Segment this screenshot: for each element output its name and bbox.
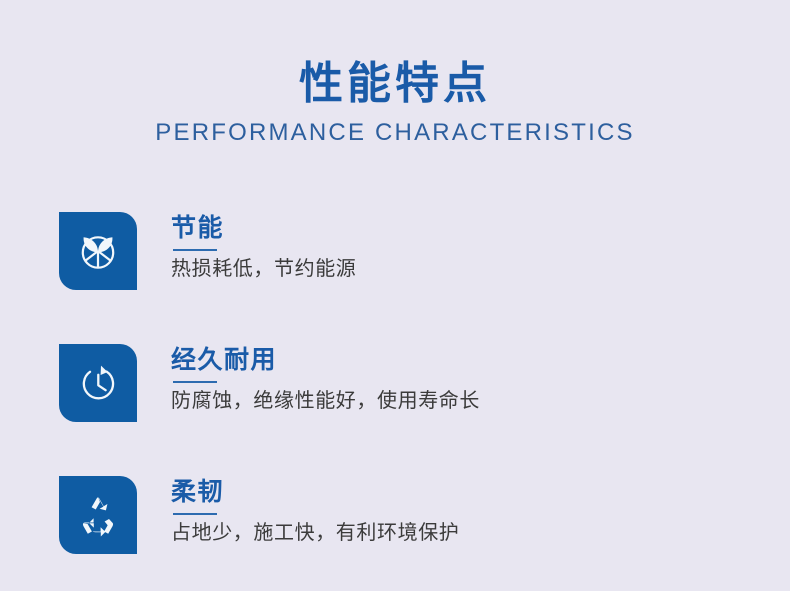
feature-divider [173,513,217,515]
feature-item: 节能 热损耗低，节约能源 [59,212,759,290]
feature-description: 防腐蚀，绝缘性能好，使用寿命长 [171,389,759,414]
feature-icon-container [59,476,137,554]
feature-icon-container [59,212,137,290]
feature-title: 节能 [171,214,759,242]
feature-divider [173,381,217,383]
feature-text-block: 节能 热损耗低，节约能源 [137,212,759,282]
feature-title: 经久耐用 [171,346,759,374]
feature-text-block: 经久耐用 防腐蚀，绝缘性能好，使用寿命长 [137,344,759,414]
energy-leaf-icon [76,229,120,273]
page-subtitle: PERFORMANCE CHARACTERISTICS [0,120,790,146]
feature-text-block: 柔韧 占地少，施工快，有利环境保护 [137,476,759,546]
page-header: 性能特点 PERFORMANCE CHARACTERISTICS [0,60,790,146]
clock-arrow-icon [76,361,120,405]
page-title: 性能特点 [0,60,790,108]
feature-description: 占地少，施工快，有利环境保护 [171,521,759,546]
feature-divider [173,249,217,251]
feature-item: 经久耐用 防腐蚀，绝缘性能好，使用寿命长 [59,344,759,422]
feature-list: 节能 热损耗低，节约能源 经久耐用 防腐蚀，绝缘性能好，使用寿命长 [59,212,759,554]
feature-title: 柔韧 [171,478,759,506]
feature-item: 柔韧 占地少，施工快，有利环境保护 [59,476,759,554]
performance-characteristics-page: 性能特点 PERFORMANCE CHARACTERISTICS [0,0,790,591]
feature-description: 热损耗低，节约能源 [171,257,759,282]
recycle-icon [76,493,120,537]
feature-icon-container [59,344,137,422]
